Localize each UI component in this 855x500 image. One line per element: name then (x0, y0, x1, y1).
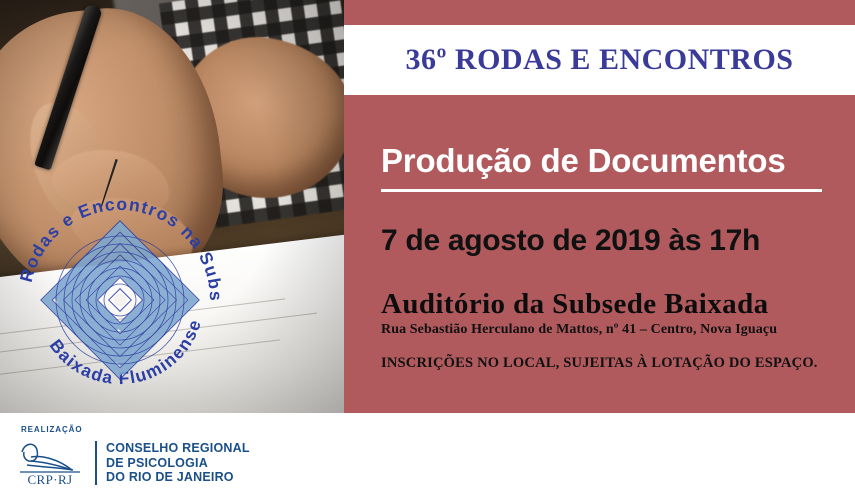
event-address: Rua Sebastião Herculano de Mattos, nº 41… (381, 322, 831, 338)
title-underline-rule (381, 189, 822, 192)
info-panel: 36º RODAS E ENCONTROS Produção de Docume… (344, 0, 855, 413)
event-subject-title: Produção de Documentos (381, 142, 831, 180)
event-poster: Rodas e Encontros na Subsede do CRP-RJ -… (0, 0, 855, 500)
hero-photo: Rodas e Encontros na Subsede do CRP-RJ -… (0, 0, 344, 413)
logo-divider (95, 441, 97, 485)
crprj-line-3: DO RIO DE JANEIRO (106, 470, 250, 485)
crprj-line-1: CONSELHO REGIONAL (106, 441, 250, 456)
event-seal-logo: Rodas e Encontros na Subsede do CRP-RJ -… (6, 186, 234, 413)
registration-notice: INSCRIÇÕES NO LOCAL, SUJEITAS À LOTAÇÃO … (381, 355, 831, 372)
crprj-wordmark: CONSELHO REGIONAL DE PSICOLOGIA DO RIO D… (106, 441, 250, 485)
crprj-logo: CRP·RJ CONSELHO REGIONAL DE PSICOLOGIA D… (18, 439, 250, 487)
crprj-line-2: DE PSICOLOGIA (106, 456, 250, 471)
realizacao-label: REALIZAÇÃO (21, 425, 82, 434)
footer: REALIZAÇÃO CRP·RJ CONSELHO REGIONAL D (0, 413, 855, 500)
crprj-mark-text: CRP·RJ (27, 472, 72, 487)
event-venue: Auditório da Subsede Baixada (381, 288, 831, 321)
event-series-title: 36º RODAS E ENCONTROS (406, 43, 794, 77)
event-datetime: 7 de agosto de 2019 às 17h (381, 224, 831, 258)
headband: 36º RODAS E ENCONTROS (344, 25, 855, 95)
panel-body: Produção de Documentos 7 de agosto de 20… (381, 95, 831, 372)
crprj-bird-mark: CRP·RJ (18, 439, 86, 487)
